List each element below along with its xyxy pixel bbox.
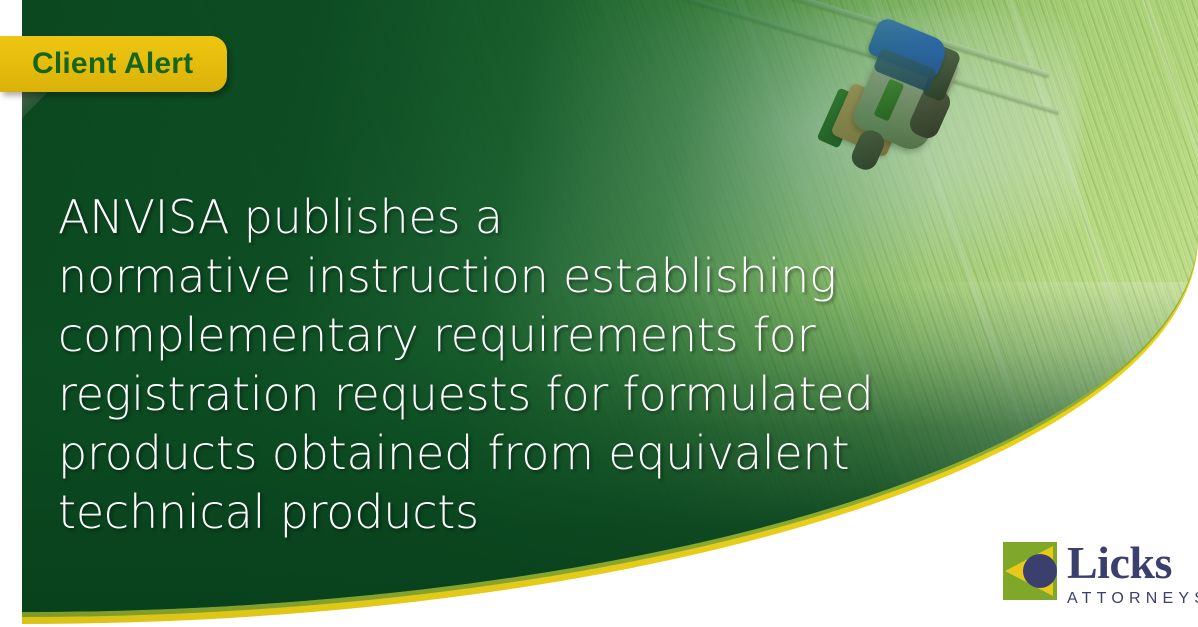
- headline-line-5: products obtained from equivalent: [58, 424, 958, 483]
- headline-line-4: registration requests for formulated: [58, 365, 958, 424]
- flag-circle-shape: [1023, 554, 1057, 588]
- logo-subtitle: ATTORNEYS: [1067, 591, 1198, 607]
- logo-name: Licks: [1067, 540, 1198, 586]
- headline: ANVISA publishes a normative instruction…: [58, 188, 958, 542]
- client-alert-banner: Client Alert ANVISA publishes a normativ…: [0, 0, 1198, 627]
- client-alert-ribbon: Client Alert: [0, 36, 227, 92]
- headline-line-6: technical products: [58, 483, 958, 542]
- brazil-flag-icon: [1003, 542, 1057, 600]
- headline-line-3: complementary requirements for: [58, 306, 958, 365]
- logo-wordmark: Licks ATTORNEYS: [1067, 540, 1198, 607]
- licks-attorneys-logo[interactable]: Licks ATTORNEYS: [1003, 540, 1193, 614]
- headline-line-2: normative instruction establishing: [58, 247, 958, 306]
- left-white-margin: [0, 0, 22, 627]
- client-alert-label: Client Alert: [32, 47, 193, 81]
- headline-line-1: ANVISA publishes a: [58, 188, 958, 247]
